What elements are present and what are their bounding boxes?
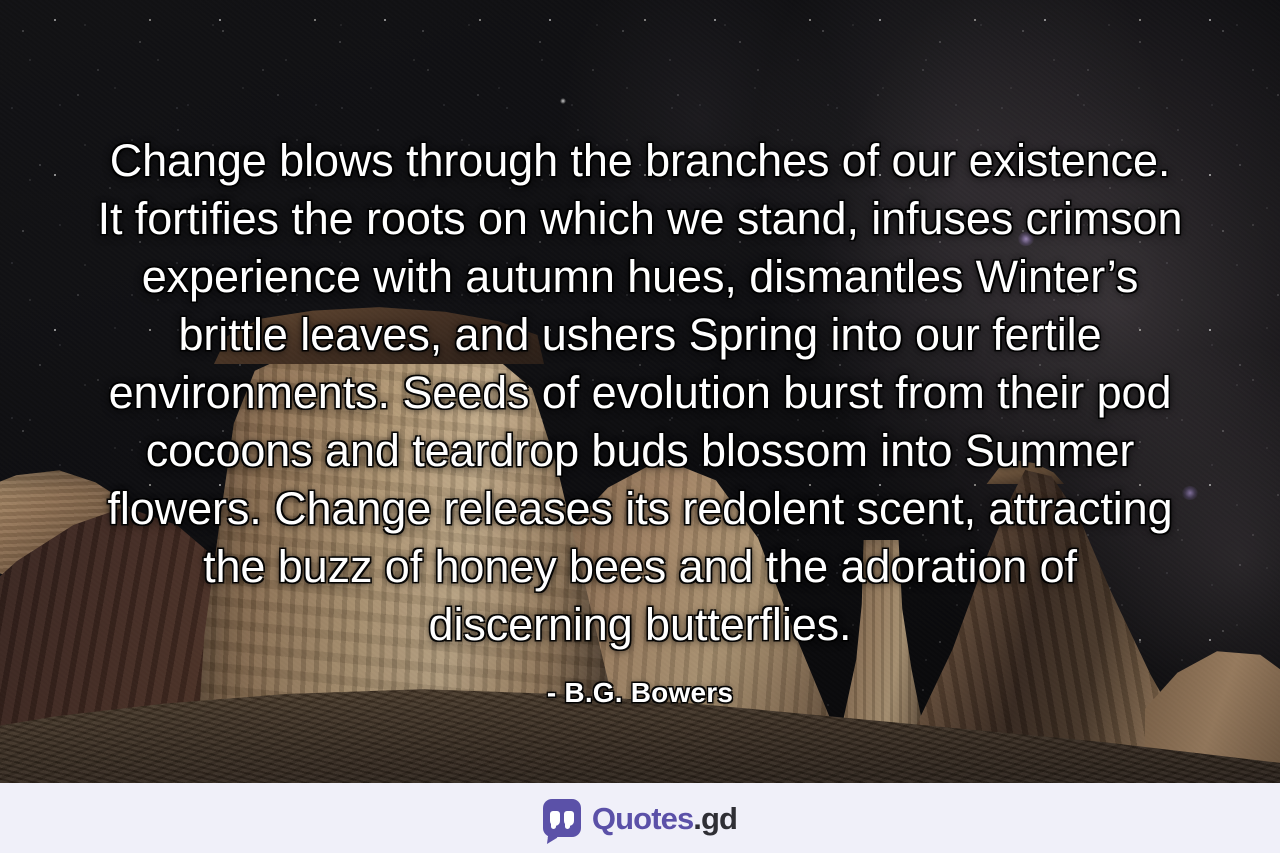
brand-name: Quotes.gd <box>592 803 737 834</box>
quote-image: Change blows through the branches of our… <box>0 0 1280 853</box>
brand-logo[interactable]: Quotes.gd <box>543 799 737 837</box>
quote-bubble-icon <box>543 799 581 837</box>
brand-tld-text: .gd <box>693 801 737 836</box>
brand-name-text: Quotes <box>592 801 693 836</box>
quote-marks-glyph <box>550 811 574 826</box>
quote-author: - B.G. Bowers <box>547 676 733 710</box>
quote-mark-left <box>550 811 560 826</box>
quote-text: Change blows through the branches of our… <box>95 132 1185 654</box>
quote-mark-right <box>564 811 574 826</box>
footer-bar: Quotes.gd <box>0 783 1280 853</box>
quote-block: Change blows through the branches of our… <box>0 0 1280 783</box>
